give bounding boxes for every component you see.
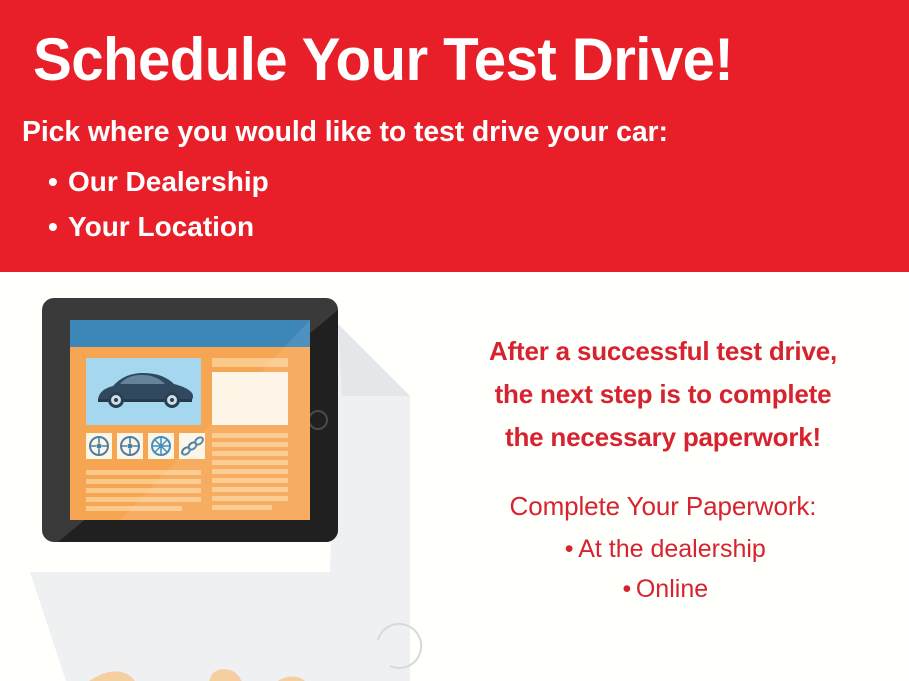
wheel-rim-icon[interactable] bbox=[121, 437, 139, 455]
headline-line: the next step is to complete bbox=[424, 373, 902, 416]
bullet-icon: • bbox=[48, 204, 68, 249]
wheel-snowflake-icon[interactable] bbox=[152, 437, 170, 455]
tablet-device[interactable] bbox=[42, 298, 338, 542]
bullet-icon: • bbox=[618, 569, 636, 609]
screen-header-bar bbox=[70, 320, 310, 347]
paperwork-headline: After a successful test drive, the next … bbox=[424, 330, 902, 459]
tablet-illustration bbox=[0, 272, 430, 681]
test-drive-location-list: •Our Dealership •Your Location bbox=[48, 159, 269, 249]
list-item-label: Online bbox=[636, 575, 708, 603]
list-item-label: Your Location bbox=[68, 211, 254, 242]
list-item[interactable]: •At the dealership bbox=[424, 529, 902, 569]
tablet-screen[interactable] bbox=[70, 320, 310, 520]
headline-line: the necessary paperwork! bbox=[424, 416, 902, 459]
list-item-label: Our Dealership bbox=[68, 166, 269, 197]
paperwork-options-list: •At the dealership •Online bbox=[424, 529, 902, 609]
bullet-icon: • bbox=[560, 529, 578, 569]
list-item[interactable]: •Our Dealership bbox=[48, 159, 269, 204]
paperwork-subheading: Complete Your Paperwork: bbox=[424, 487, 902, 525]
bullet-icon: • bbox=[48, 159, 68, 204]
paperwork-text-block: After a successful test drive, the next … bbox=[424, 330, 902, 609]
car-photo-panel[interactable] bbox=[86, 358, 201, 425]
headline-line: After a successful test drive, bbox=[424, 330, 902, 373]
list-item[interactable]: •Online bbox=[424, 569, 902, 609]
list-item-label: At the dealership bbox=[578, 535, 766, 563]
wheel-rim-icon[interactable] bbox=[90, 437, 108, 455]
page-title: Schedule Your Test Drive! bbox=[33, 26, 733, 94]
poster: Schedule Your Test Drive! Pick where you… bbox=[0, 0, 909, 681]
list-item[interactable]: •Your Location bbox=[48, 204, 269, 249]
red-header-banner: Schedule Your Test Drive! Pick where you… bbox=[0, 0, 909, 272]
banner-subtitle: Pick where you would like to test drive … bbox=[22, 114, 668, 150]
